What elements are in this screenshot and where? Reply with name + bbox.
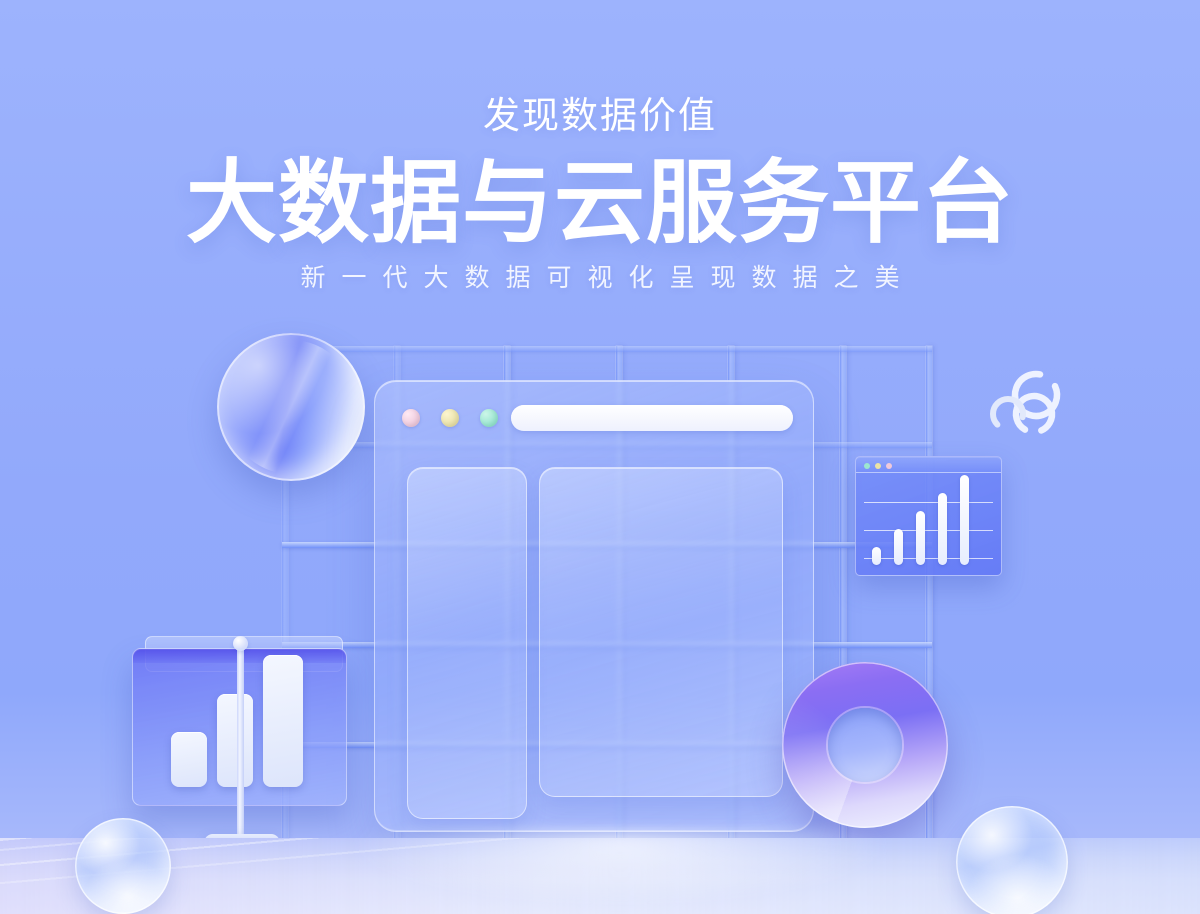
glass-sphere [75,818,171,914]
floor-glow [300,830,940,914]
chart-bar [938,493,947,565]
monitor-pole [237,642,244,840]
glass-disc [217,333,365,481]
maximize-dot[interactable] [480,409,498,427]
chart-window-titlebar [856,457,1001,473]
glass-sphere [956,806,1068,914]
chart-bar [960,475,969,565]
chart-gridline [864,530,993,531]
torus-hole [828,708,901,781]
torus-ring [782,662,948,828]
hero-subhead: 新一代大数据可视化呈现数据之美 [0,266,1200,291]
monitor-panel [132,636,356,862]
browser-titlebar [375,381,813,453]
close-dot[interactable] [402,409,420,427]
hero-text-block: 发现数据价值 大数据与云服务平台 新一代大数据可视化呈现数据之美 [0,0,1200,291]
monitor-bar [171,732,207,787]
hero-banner: 发现数据价值 大数据与云服务平台 新一代大数据可视化呈现数据之美 [0,0,1200,914]
address-bar-input[interactable] [511,405,793,431]
sidebar-pane[interactable] [407,467,527,819]
cloud-icon [981,369,1073,441]
minimize-dot[interactable] [875,463,881,469]
chart-bar [894,529,903,565]
monitor-bar [217,694,253,787]
browser-window[interactable] [374,380,814,832]
monitor-pole-cap [233,636,248,651]
chart-bar [916,511,925,565]
chart-bar [872,547,881,565]
hero-headline: 大数据与云服务平台 [0,156,1200,252]
chart-window[interactable] [855,456,1002,576]
content-pane[interactable] [539,467,783,797]
chart-gridline [864,502,993,503]
monitor-bar [263,655,303,787]
hero-eyebrow: 发现数据价值 [0,97,1200,134]
chart-window-plot [856,473,1001,576]
minimize-dot[interactable] [441,409,459,427]
close-dot[interactable] [886,463,892,469]
maximize-dot[interactable] [864,463,870,469]
chart-gridline [864,558,993,559]
